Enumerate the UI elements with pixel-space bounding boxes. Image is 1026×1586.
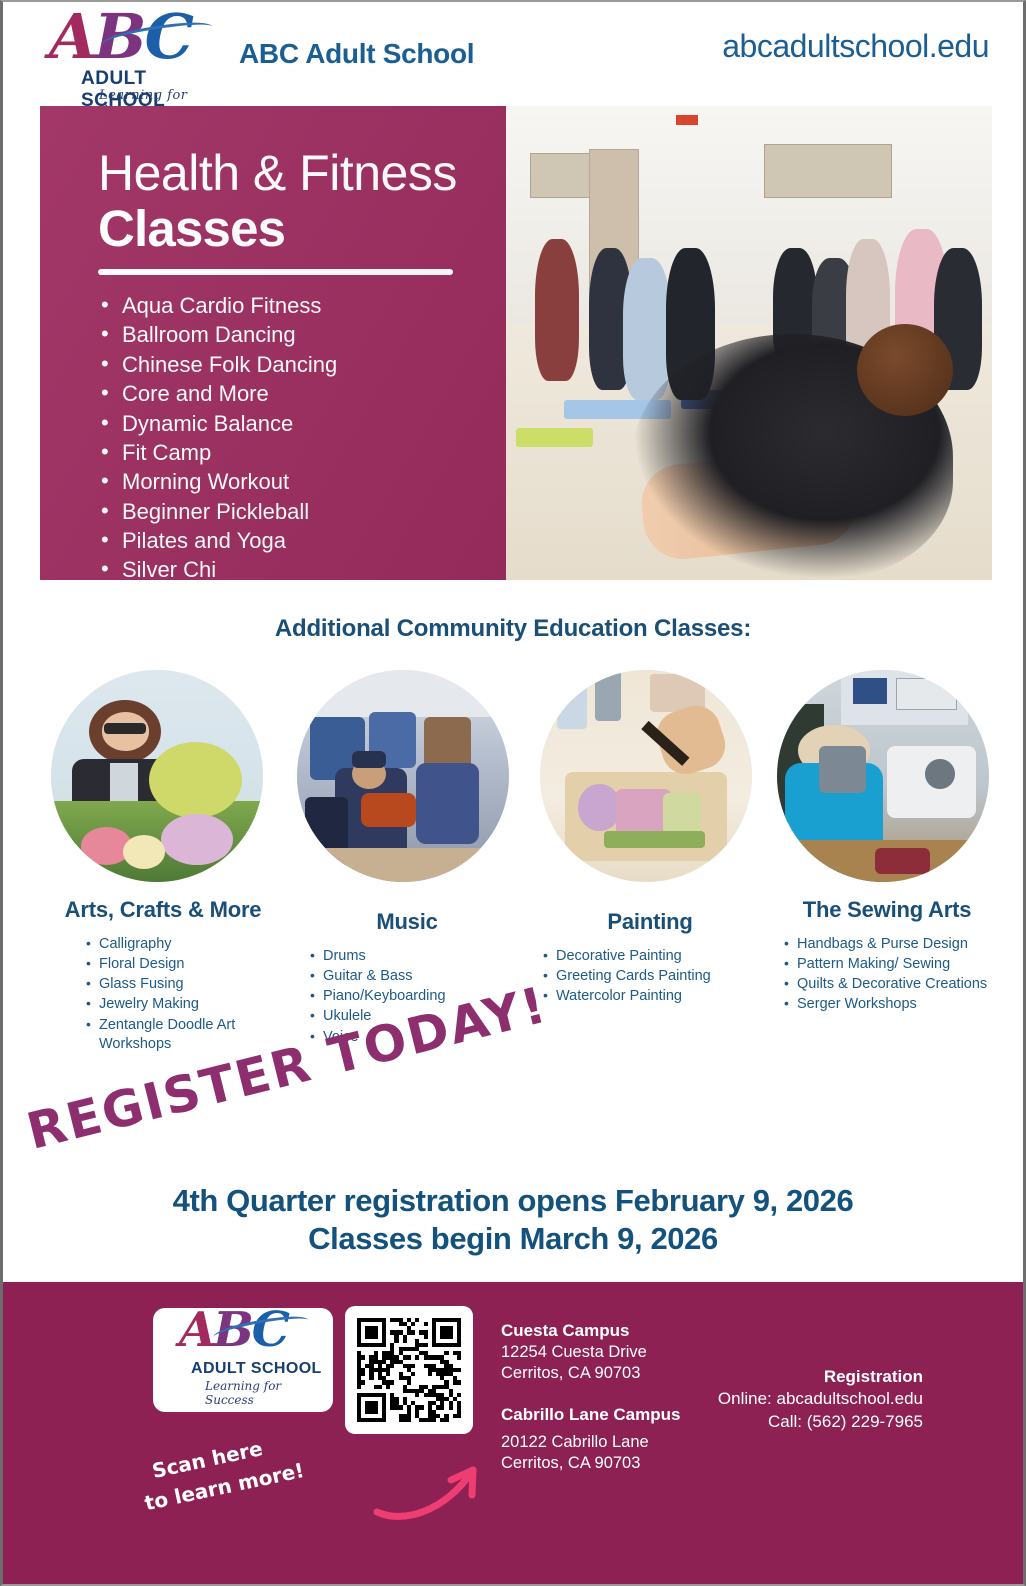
list-item: Aqua Cardio Fitness [122, 292, 337, 321]
category-title: Music [293, 910, 521, 935]
list-item: Floral Design [99, 955, 277, 974]
list-item: Drums [323, 947, 521, 966]
campus-city: Cerritos, CA 90703 [501, 1454, 640, 1472]
classes-begin-date: Classes begin March 9, 2026 [3, 1220, 1023, 1258]
list-item: Decorative Painting [556, 947, 764, 966]
campus-addresses: Cuesta Campus 12254 Cuesta Drive Cerrito… [501, 1320, 680, 1474]
category-sewing-arts: The Sewing Arts Handbags & Purse Design … [773, 670, 1001, 1016]
footer-logo-tagline: Learning for Success [205, 1379, 333, 1407]
list-item: Dynamic Balance [122, 410, 337, 439]
category-title: Painting [536, 910, 764, 935]
category-item-list: Calligraphy Floral Design Glass Fusing J… [49, 935, 277, 1055]
music-class-photo [297, 670, 509, 882]
registration-phone[interactable]: Call: (562) 229-7965 [768, 1412, 923, 1431]
hero-section: Health & Fitness Classes Aqua Cardio Fit… [40, 106, 992, 586]
website-url[interactable]: abcadultschool.edu [722, 28, 989, 65]
sewing-machine-photo [777, 670, 989, 882]
list-item: Fit Camp [122, 439, 337, 468]
yoga-fitness-class-photo [506, 106, 992, 580]
health-fitness-panel: Health & Fitness Classes Aqua Cardio Fit… [40, 106, 506, 580]
curved-arrow-icon [373, 1450, 493, 1522]
scan-line-2: to learn more! [142, 1438, 387, 1518]
abc-adult-school-logo: ABC ADULT SCHOOL Learning for Success [41, 10, 216, 98]
list-item: Serger Workshops [797, 995, 1001, 1014]
list-item: Watercolor Painting [556, 987, 764, 1006]
list-item: Morning Workout [122, 468, 337, 497]
footer-logo-adult-school-text: ADULT SCHOOL [191, 1360, 322, 1378]
qr-code-pattern [357, 1318, 461, 1422]
list-item: Core and More [122, 380, 337, 409]
campus-street: 12254 Cuesta Drive [501, 1343, 647, 1361]
category-arts-crafts: Arts, Crafts & More Calligraphy Floral D… [49, 670, 277, 1055]
registration-info: Registration Online: abcadultschool.edu … [718, 1366, 923, 1433]
campus-name: Cuesta Campus [501, 1320, 680, 1342]
campus-street: 20122 Cabrillo Lane [501, 1433, 649, 1451]
campus-name: Cabrillo Lane Campus [501, 1404, 680, 1426]
hero-title-line2: Classes [98, 203, 285, 255]
category-title: The Sewing Arts [773, 898, 1001, 923]
list-item: Quilts & Decorative Creations [797, 975, 1001, 994]
campus-city: Cerritos, CA 90703 [501, 1364, 640, 1382]
list-item: Glass Fusing [99, 975, 277, 994]
hero-title-line1: Health & Fitness [98, 148, 457, 199]
campus-block: Cuesta Campus 12254 Cuesta Drive Cerrito… [501, 1320, 680, 1384]
footer-abc-logo: ABC ADULT SCHOOL Learning for Success [153, 1308, 333, 1412]
list-item: Calligraphy [99, 935, 277, 954]
list-item: Pattern Making/ Sewing [797, 955, 1001, 974]
campus-block: Cabrillo Lane Campus 20122 Cabrillo Lane… [501, 1404, 680, 1474]
list-item: Chinese Folk Dancing [122, 351, 337, 380]
floral-design-photo [51, 670, 263, 882]
flyer-page: ABC ADULT SCHOOL Learning for Success AB… [0, 0, 1026, 1586]
registration-open-date: 4th Quarter registration opens February … [173, 1183, 854, 1218]
hero-divider [98, 269, 453, 275]
list-item: Beginner Pickleball [122, 498, 337, 527]
page-header: ABC ADULT SCHOOL Learning for Success AB… [3, 2, 1023, 102]
category-painting: Painting Decorative Painting Greeting Ca… [536, 670, 764, 1007]
page-title: ABC Adult School [239, 38, 474, 70]
category-item-list: Handbags & Purse Design Pattern Making/ … [773, 935, 1001, 1015]
registration-online[interactable]: Online: abcadultschool.edu [718, 1389, 923, 1408]
list-item: Silver Chi [122, 556, 337, 580]
list-item: Pilates and Yoga [122, 527, 337, 556]
page-footer: ABC ADULT SCHOOL Learning for Success Sc… [3, 1282, 1023, 1584]
scan-here-text: Scan here to learn more! [149, 1409, 386, 1516]
category-item-list: Decorative Painting Greeting Cards Paint… [536, 947, 764, 1007]
list-item: Greeting Cards Painting [556, 967, 764, 986]
additional-classes-heading: Additional Community Education Classes: [3, 615, 1023, 643]
list-item: Jewelry Making [99, 995, 277, 1014]
painting-hand-photo [540, 670, 752, 882]
registration-dates: 4th Quarter registration opens February … [3, 1182, 1023, 1258]
registration-title: Registration [718, 1366, 923, 1388]
health-fitness-class-list: Aqua Cardio Fitness Ballroom Dancing Chi… [98, 292, 337, 580]
list-item: Ballroom Dancing [122, 321, 337, 350]
list-item: Handbags & Purse Design [797, 935, 1001, 954]
category-title: Arts, Crafts & More [49, 898, 277, 923]
list-item: Guitar & Bass [323, 967, 521, 986]
